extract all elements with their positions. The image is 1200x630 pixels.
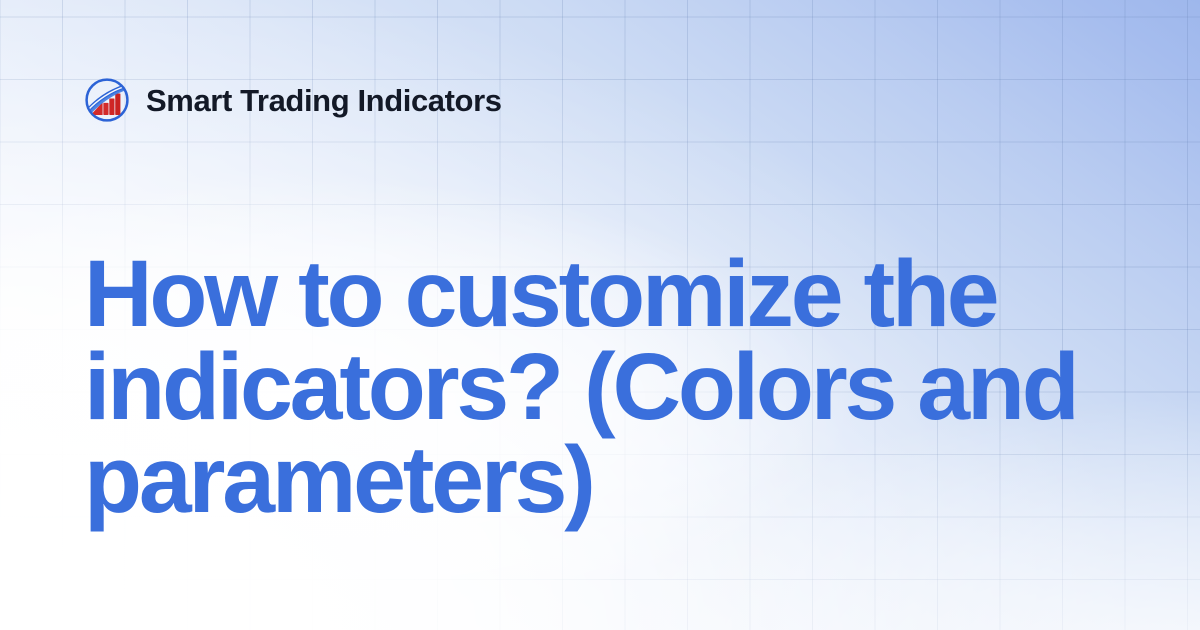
brand-name: Smart Trading Indicators	[146, 85, 502, 116]
brand-lockup: Smart Trading Indicators	[84, 74, 1120, 126]
card-content: Smart Trading Indicators How to customiz…	[0, 0, 1200, 630]
page-title: How to customize the indicators? (Colors…	[84, 248, 1144, 527]
trading-chart-circle-logo-icon	[84, 77, 130, 123]
og-card: Smart Trading Indicators How to customiz…	[0, 0, 1200, 630]
